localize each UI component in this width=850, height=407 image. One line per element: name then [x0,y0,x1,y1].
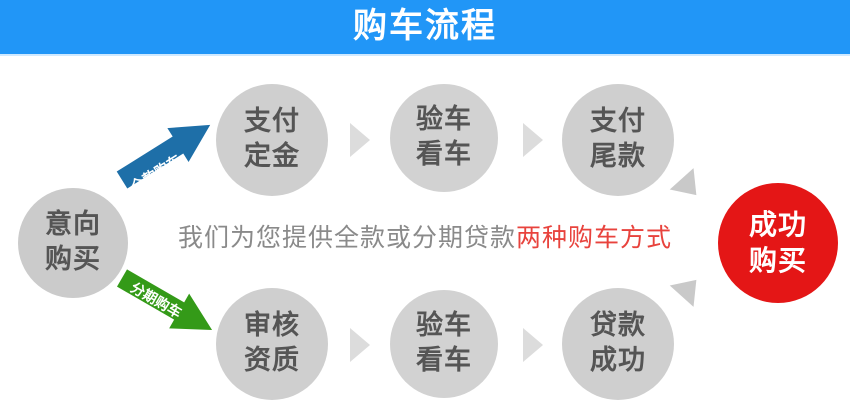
flow-node-bottom-1-line2: 资质 [244,344,300,379]
header-underline [0,54,850,56]
page-title: 购车流程 [0,0,850,54]
arrow-triangle-icon-merge-bottom [670,269,709,307]
caption: 我们为您提供全款或分期贷款两种购车方式 [0,218,850,254]
flow-node-top-2-line1: 验车 [416,103,472,138]
branch-arrow-full-payment [111,108,220,197]
flow-node-top-2-line2: 看车 [416,138,472,173]
arrow-triangle-icon-top-2 [523,123,543,157]
flow-node-top-1-line2: 定金 [244,140,300,175]
flow-node-top-3-line2: 尾款 [590,140,646,175]
flow-node-bottom-1: 审核 资质 [216,288,328,400]
flow-node-bottom-2: 验车 看车 [390,290,498,398]
flow-node-top-1: 支付 定金 [216,84,328,196]
purchase-flow-infographic: 购车流程 意向 购买 全款购车 分期购车 支付 定金 验车 看车 支付 尾款 审… [0,0,850,407]
flow-node-bottom-3-line2: 成功 [590,344,646,379]
caption-red-text: 两种购车方式 [516,223,672,252]
flow-node-bottom-2-line2: 看车 [416,344,472,379]
flow-node-bottom-3-line1: 贷款 [590,309,646,344]
arrow-triangle-icon-bottom-2 [523,328,543,362]
flow-node-bottom-1-line1: 审核 [244,309,300,344]
arrow-triangle-icon-top-1 [350,123,370,157]
flow-node-top-1-line1: 支付 [244,105,300,140]
flow-node-top-2: 验车 看车 [390,84,498,192]
caption-gray-text: 我们为您提供全款或分期贷款 [178,223,516,252]
flow-node-bottom-2-line1: 验车 [416,309,472,344]
arrow-triangle-icon-merge-top [670,168,709,206]
flow-node-top-3-line1: 支付 [590,105,646,140]
arrow-triangle-icon-bottom-1 [350,328,370,362]
flow-node-top-3: 支付 尾款 [562,84,674,196]
flow-node-bottom-3: 贷款 成功 [562,288,674,400]
